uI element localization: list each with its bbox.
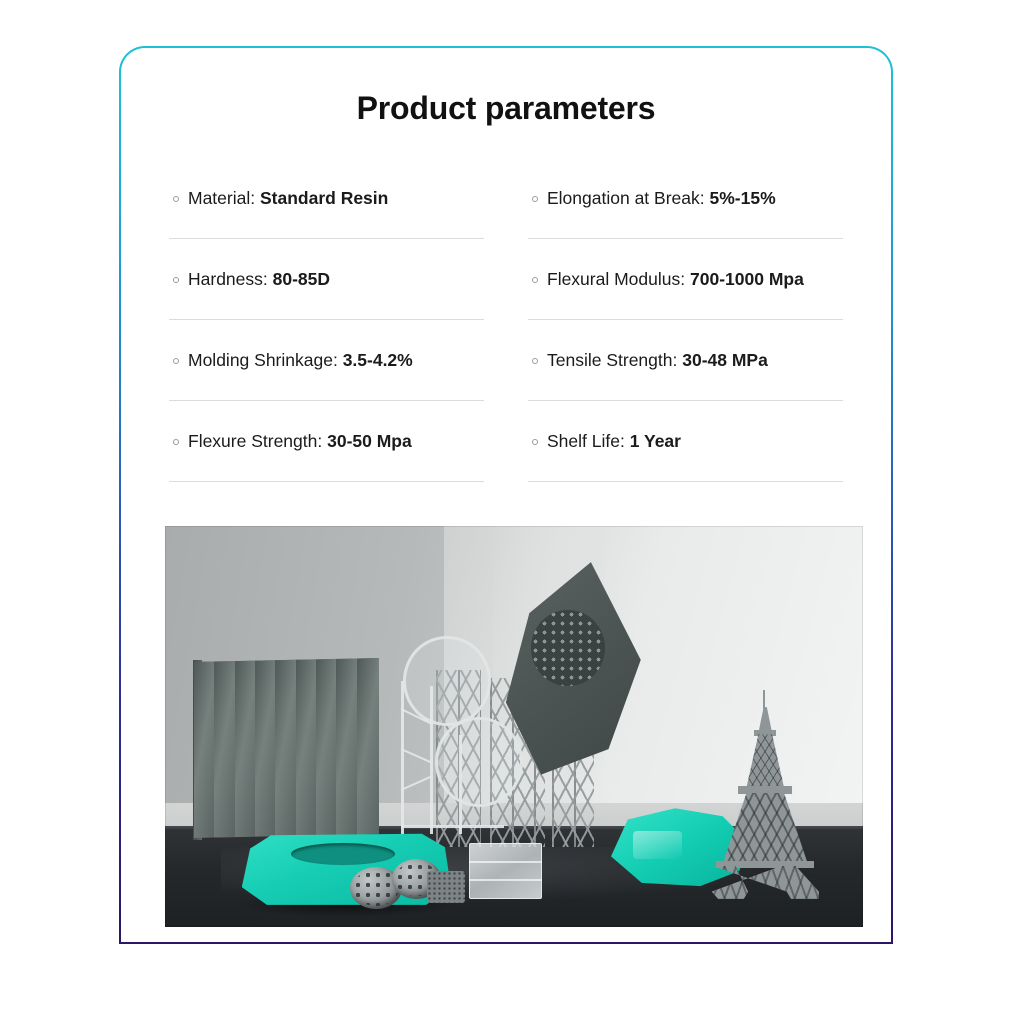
spec-row: Flexure Strength: 30-50 Mpa — [169, 401, 484, 482]
spec-label: Flexural Modulus: — [547, 269, 685, 289]
spec-text: Flexure Strength: 30-50 Mpa — [188, 431, 412, 452]
spec-value: 700-1000 Mpa — [690, 269, 804, 289]
spec-text: Flexural Modulus: 700-1000 Mpa — [547, 269, 804, 290]
spec-row: Molding Shrinkage: 3.5-4.2% — [169, 320, 484, 401]
spec-value: 1 Year — [630, 431, 681, 451]
spec-label: Hardness: — [188, 269, 268, 289]
circle-outline-icon — [532, 358, 538, 364]
circle-outline-icon — [173, 358, 179, 364]
spec-label: Flexure Strength: — [188, 431, 322, 451]
sail-perforations — [531, 610, 604, 686]
spec-label: Molding Shrinkage: — [188, 350, 338, 370]
spec-label: Tensile Strength: — [547, 350, 677, 370]
page-title-plain: Product — [357, 90, 485, 126]
spec-value: 5%-15% — [709, 188, 775, 208]
spec-value: 30-48 MPa — [682, 350, 768, 370]
circle-outline-icon — [173, 277, 179, 283]
eiffel-tower-print — [709, 690, 821, 899]
transparent-cube-print — [469, 843, 542, 899]
spec-value: Standard Resin — [260, 188, 388, 208]
spec-label: Shelf Life: — [547, 431, 625, 451]
spec-value: 30-50 Mpa — [327, 431, 412, 451]
product-card: Product parameters Material: Standard Re… — [119, 46, 893, 944]
circle-outline-icon — [532, 196, 538, 202]
spec-text: Molding Shrinkage: 3.5-4.2% — [188, 350, 413, 371]
mesh-cylinder-print — [427, 871, 465, 903]
spec-row: Material: Standard Resin — [169, 158, 484, 239]
circle-outline-icon — [532, 439, 538, 445]
product-card-inner: Product parameters Material: Standard Re… — [121, 48, 891, 942]
spec-label: Elongation at Break: — [547, 188, 705, 208]
spec-label: Material: — [188, 188, 255, 208]
transparent-eyeglass-print — [395, 618, 528, 843]
spec-text: Hardness: 80-85D — [188, 269, 330, 290]
spec-column-left: Material: Standard Resin Hardness: 80-85… — [169, 158, 484, 482]
cube-band — [469, 861, 542, 863]
spec-text: Tensile Strength: 30-48 MPa — [547, 350, 768, 371]
product-photo — [165, 526, 863, 927]
spec-grid: Material: Standard Resin Hardness: 80-85… — [121, 158, 891, 482]
car-body-cutout — [291, 843, 396, 865]
spec-row: Flexural Modulus: 700-1000 Mpa — [528, 239, 843, 320]
circle-outline-icon — [532, 277, 538, 283]
organic-print-highlight — [633, 831, 682, 859]
spec-value: 3.5-4.2% — [343, 350, 413, 370]
ridged-panel-print — [194, 658, 379, 838]
spec-text: Shelf Life: 1 Year — [547, 431, 681, 452]
circle-outline-icon — [173, 439, 179, 445]
spec-row: Elongation at Break: 5%-15% — [528, 158, 843, 239]
page-title-wrap: Product parameters — [121, 90, 891, 127]
spec-column-right: Elongation at Break: 5%-15% Flexural Mod… — [528, 158, 843, 482]
spec-value: 80-85D — [273, 269, 330, 289]
circle-outline-icon — [173, 196, 179, 202]
page-title: Product parameters — [357, 90, 656, 127]
spec-row: Hardness: 80-85D — [169, 239, 484, 320]
cube-band — [469, 879, 542, 881]
page-title-highlighted: parameters — [485, 90, 656, 127]
spec-text: Elongation at Break: 5%-15% — [547, 188, 776, 209]
spec-row: Shelf Life: 1 Year — [528, 401, 843, 482]
spec-row: Tensile Strength: 30-48 MPa — [528, 320, 843, 401]
spec-text: Material: Standard Resin — [188, 188, 388, 209]
page-root: Product parameters Material: Standard Re… — [0, 0, 1024, 1016]
